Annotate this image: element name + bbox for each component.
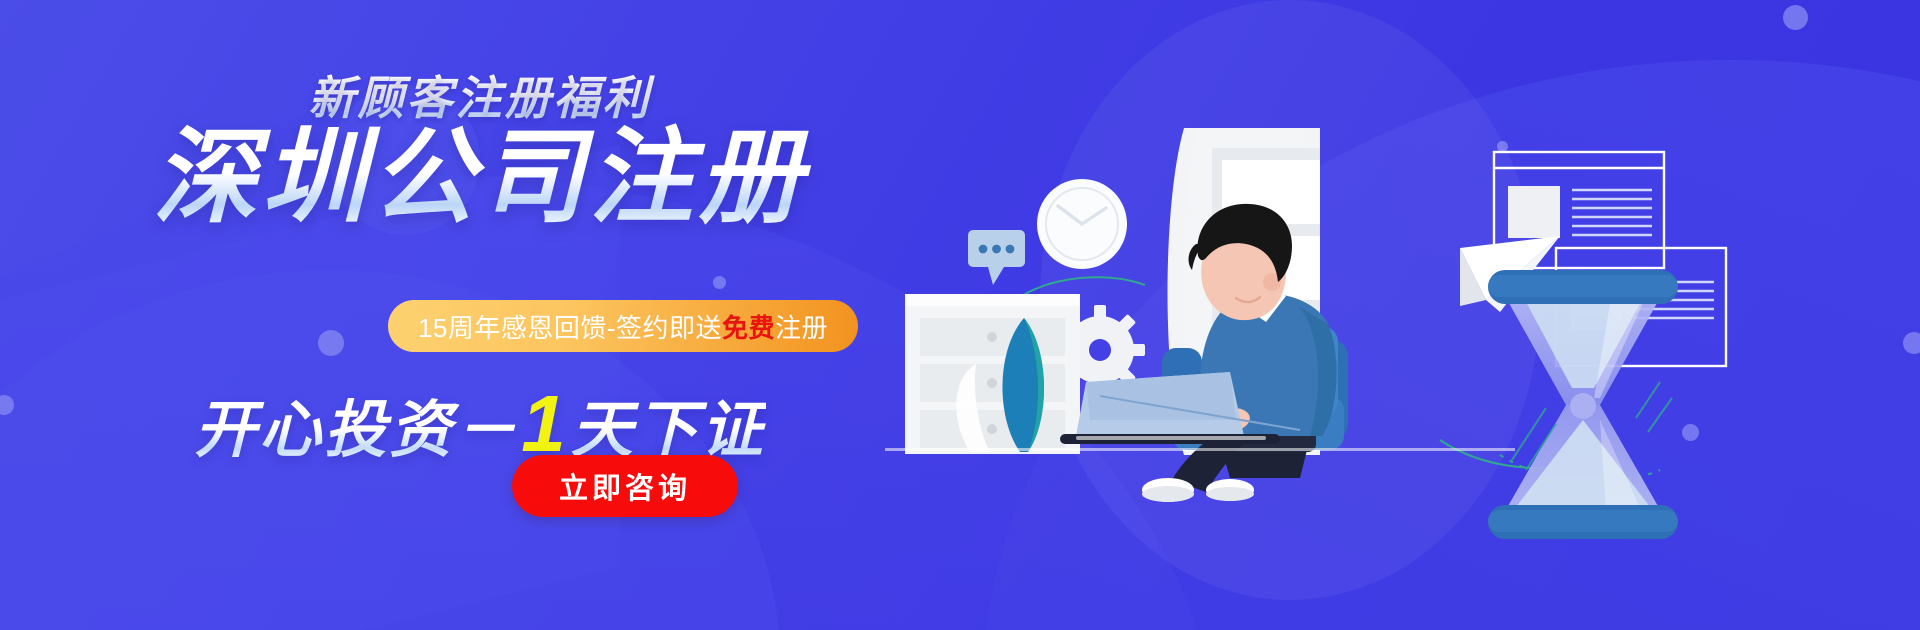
banner-subline: 开心投资－1天下证 xyxy=(0,378,960,470)
clock-icon xyxy=(1037,179,1127,269)
promo-suffix: 注册 xyxy=(775,313,828,343)
banner-copy: 新顾客注册福利 深圳公司注册 15周年感恩回馈-签约即送免费注册 开心投资－1天… xyxy=(0,0,960,630)
promo-banner: 新顾客注册福利 深圳公司注册 15周年感恩回馈-签约即送免费注册 开心投资－1天… xyxy=(0,0,1920,630)
banner-eyebrow: 新顾客注册福利 xyxy=(0,62,960,128)
ground-line xyxy=(885,448,1515,451)
hero-illustration xyxy=(900,0,1920,630)
promo-badge-text: 15周年感恩回馈-签约即送免费注册 xyxy=(418,308,828,345)
document-card-content xyxy=(1508,186,1652,238)
promo-prefix: 15周年感恩回馈-签约即送 xyxy=(418,313,722,343)
consult-now-button[interactable]: 立即咨询 xyxy=(512,455,738,517)
promo-badge: 15周年感恩回馈-签约即送免费注册 xyxy=(388,300,858,352)
promo-highlight: 免费 xyxy=(722,313,775,343)
consult-now-label: 立即咨询 xyxy=(559,465,691,507)
illustration-svg xyxy=(900,0,1920,630)
chat-bubble-icon xyxy=(968,230,1025,285)
subline-before: 开心投资－ xyxy=(194,396,519,465)
banner-headline: 深圳公司注册 xyxy=(0,122,960,234)
